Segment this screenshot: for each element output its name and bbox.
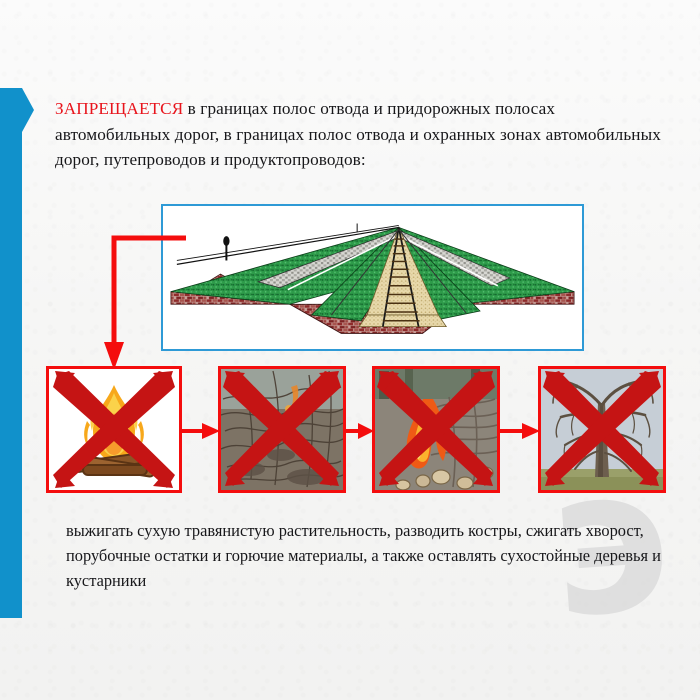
connector-arrow-to-campfire [98,228,190,380]
arrow-3 [498,423,540,439]
prohibition-description: выжигать сухую травянистую растительност… [66,518,666,593]
page-title: ЗАПРЕЩАЕТСЯ в границах полос отвода и пр… [55,96,665,173]
accent-band-shape [0,88,34,618]
arrow-right-icon [498,423,540,439]
photo-brushwood-remains[interactable] [218,366,346,493]
slide-canvas: э ЗАПРЕЩАЕТСЯ в границах полос отвода и … [0,0,700,700]
dead-tree-photo [541,369,663,490]
embankment-illustration-panel [161,204,584,351]
arrow-2 [344,423,374,439]
embankment-cross-section-diagram [163,206,582,349]
heading-highlight: ЗАПРЕЩАЕТСЯ [55,99,183,118]
photo-burning-woodpile[interactable] [372,366,500,493]
photo-campfire[interactable] [46,366,182,493]
arrow-right-icon [344,423,374,439]
left-accent-band [0,88,34,618]
campfire-illustration [49,369,179,490]
burning-woodpile-photo [375,369,497,490]
connector-arrow-shape [98,228,190,380]
brushwood-photo [221,369,343,490]
photo-dead-tree[interactable] [538,366,666,493]
arrow-1 [180,423,220,439]
arrow-right-icon [180,423,220,439]
